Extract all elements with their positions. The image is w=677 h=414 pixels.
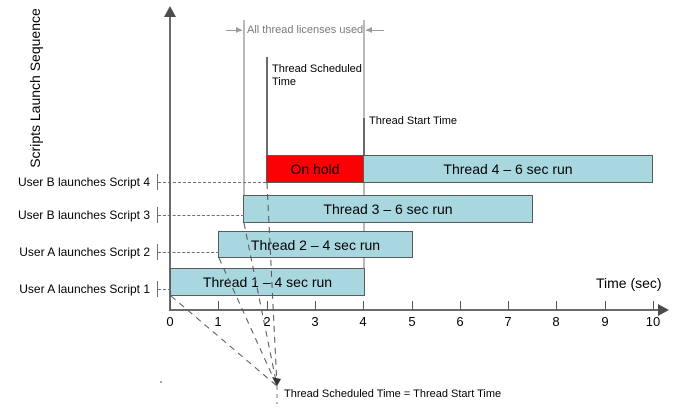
bar-segment-thread-4[interactable]: Thread 4 – 6 sec run — [363, 155, 653, 183]
row-label-script-2: User A launches Script 2 — [0, 245, 150, 259]
y-axis-title: Scripts Launch Sequence — [27, 0, 43, 178]
x-tick-label-7: 7 — [496, 314, 520, 329]
x-tick-label-6: 6 — [448, 314, 472, 329]
callout-arrowhead-icon — [272, 377, 281, 386]
x-tick-label-0: 0 — [158, 314, 182, 329]
span-arrow-left-icon — [236, 27, 242, 33]
bar-segment-on-hold[interactable]: On hold — [266, 155, 364, 183]
x-tick-6 — [460, 301, 461, 310]
x-tick-10 — [653, 301, 654, 310]
leader-line-script-3 — [158, 215, 244, 216]
y-axis-line — [169, 14, 171, 311]
y-axis-arrow-icon — [164, 6, 176, 17]
leader-line-script-1 — [158, 289, 171, 290]
x-tick-label-4: 4 — [351, 314, 375, 329]
row-label-script-3: User B launches Script 3 — [0, 208, 150, 222]
stray-speck — [160, 381, 162, 383]
x-tick-7 — [508, 301, 509, 310]
bar-segment-thread-2[interactable]: Thread 2 – 4 sec run — [218, 231, 413, 258]
timing-diagram: 0 1 2 3 4 5 6 7 8 9 10 Time (sec) Script… — [0, 0, 677, 414]
leader-line-script-4 — [158, 182, 266, 183]
x-tick-1 — [218, 301, 219, 310]
marker-line-licenses-start — [243, 20, 245, 215]
x-tick-0 — [170, 301, 171, 310]
x-axis-line — [170, 309, 662, 311]
thread-scheduled-time-line2: Time — [272, 76, 296, 88]
callout-label: Thread Scheduled Time = Thread Start Tim… — [284, 388, 501, 400]
leader-line-script-2 — [158, 252, 219, 253]
annotation-thread-scheduled-time: Thread Scheduled Time — [272, 63, 382, 89]
x-tick-5 — [412, 301, 413, 310]
x-tick-label-3: 3 — [303, 314, 327, 329]
row-label-script-1: User A launches Script 1 — [0, 282, 150, 296]
x-tick-4 — [363, 301, 364, 310]
x-tick-8 — [556, 301, 557, 310]
x-tick-label-1: 1 — [206, 314, 230, 329]
x-tick-label-10: 10 — [641, 314, 665, 329]
x-tick-2 — [267, 301, 268, 310]
x-tick-label-2: 2 — [255, 314, 279, 329]
x-tick-label-9: 9 — [593, 314, 617, 329]
thread-scheduled-time-line1: Thread Scheduled — [272, 63, 362, 75]
bar-segment-thread-3[interactable]: Thread 3 – 6 sec run — [243, 195, 533, 223]
x-tick-label-5: 5 — [400, 314, 424, 329]
marker-line-thread-scheduled-time — [266, 57, 268, 163]
x-tick-9 — [605, 301, 606, 310]
annotation-all-thread-licenses-used: All thread licenses used — [247, 24, 363, 36]
x-tick-label-8: 8 — [544, 314, 568, 329]
row-label-script-4: User B launches Script 4 — [0, 175, 150, 189]
span-arrow-right-icon — [366, 27, 372, 33]
annotation-thread-start-time: Thread Start Time — [369, 115, 457, 128]
bar-segment-thread-1[interactable]: Thread 1 – 4 sec run — [170, 268, 365, 296]
x-axis-title: Time (sec) — [596, 275, 662, 291]
x-tick-3 — [315, 301, 316, 310]
